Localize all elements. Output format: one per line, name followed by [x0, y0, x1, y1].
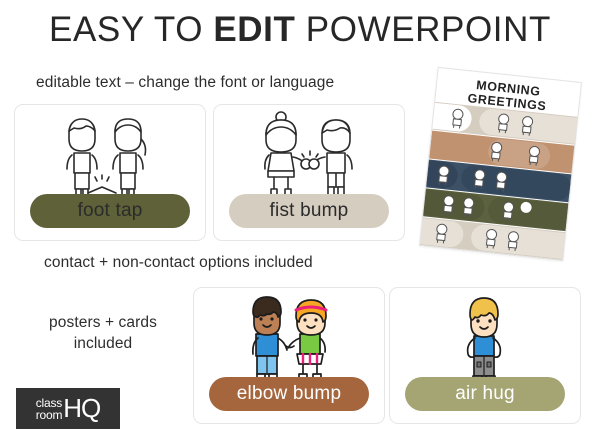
poster-mini-figure-10 — [459, 196, 477, 218]
elbow-bump-figures-icon — [224, 292, 354, 388]
caption-editable-text: editable text – change the font or langu… — [36, 74, 334, 92]
title-part-1: EASY TO — [49, 10, 213, 49]
poster-mini-figure-4 — [487, 141, 505, 163]
poster-mini-figure-9 — [439, 194, 457, 216]
card-pill-air-hug: air hug — [405, 377, 565, 411]
card-illustration-elbow-bump — [194, 288, 384, 388]
card-pill-foot-tap: foot tap — [30, 194, 190, 228]
logo-line-2: room — [36, 409, 63, 421]
card-illustration-foot-tap — [15, 105, 205, 205]
card-fist-bump[interactable]: fist bump — [213, 104, 405, 241]
brand-logo-classroomhq[interactable]: class room HQ — [16, 388, 120, 429]
logo-line-1: class — [36, 397, 63, 409]
caption-contact-options: contact + non-contact options included — [44, 254, 313, 272]
poster-mini-figure-7 — [470, 168, 488, 190]
poster-mini-figure-12 — [432, 222, 450, 244]
logo-wordmark: class room — [36, 397, 63, 421]
card-pill-elbow-bump: elbow bump — [209, 377, 369, 411]
poster-mini-figure-5 — [525, 145, 543, 167]
card-illustration-fist-bump — [214, 105, 404, 205]
poster-mini-figure-13 — [482, 228, 500, 250]
logo-inner: class room HQ — [36, 397, 101, 421]
card-illustration-air-hug — [390, 288, 580, 388]
poster-mini-figure-14 — [504, 230, 522, 252]
caption-posters-cards: posters + cards included — [18, 313, 188, 355]
title-part-2: POWERPOINT — [295, 10, 551, 49]
card-label-fist-bump: fist bump — [270, 200, 349, 222]
card-pill-fist-bump: fist bump — [229, 194, 389, 228]
air-hug-figure-icon — [420, 292, 550, 388]
poster-mini-figure-2 — [494, 112, 512, 134]
title-emphasis: EDIT — [213, 10, 295, 49]
poster-preview-morning-greetings[interactable]: MORNING GREETINGS — [419, 67, 582, 261]
card-air-hug[interactable]: air hug — [389, 287, 581, 424]
poster-mini-figure-8 — [492, 170, 510, 192]
poster-mini-figure-3 — [518, 115, 536, 137]
card-label-air-hug: air hug — [455, 383, 515, 405]
card-foot-tap[interactable]: foot tap — [14, 104, 206, 241]
poster-mini-figure-11 — [499, 200, 517, 222]
card-label-foot-tap: foot tap — [78, 200, 143, 222]
poster-mini-figure-6 — [435, 164, 453, 186]
poster-mini-figure-1 — [449, 107, 467, 129]
logo-mark-hq: HQ — [63, 397, 100, 420]
fist-bump-figures-icon — [244, 109, 374, 205]
card-label-elbow-bump: elbow bump — [237, 383, 341, 405]
page-title: EASY TO EDIT POWERPOINT — [0, 10, 600, 50]
slide-canvas: EASY TO EDIT POWERPOINT editable text – … — [0, 0, 600, 436]
card-elbow-bump[interactable]: elbow bump — [193, 287, 385, 424]
foot-tap-figures-icon — [45, 109, 175, 205]
